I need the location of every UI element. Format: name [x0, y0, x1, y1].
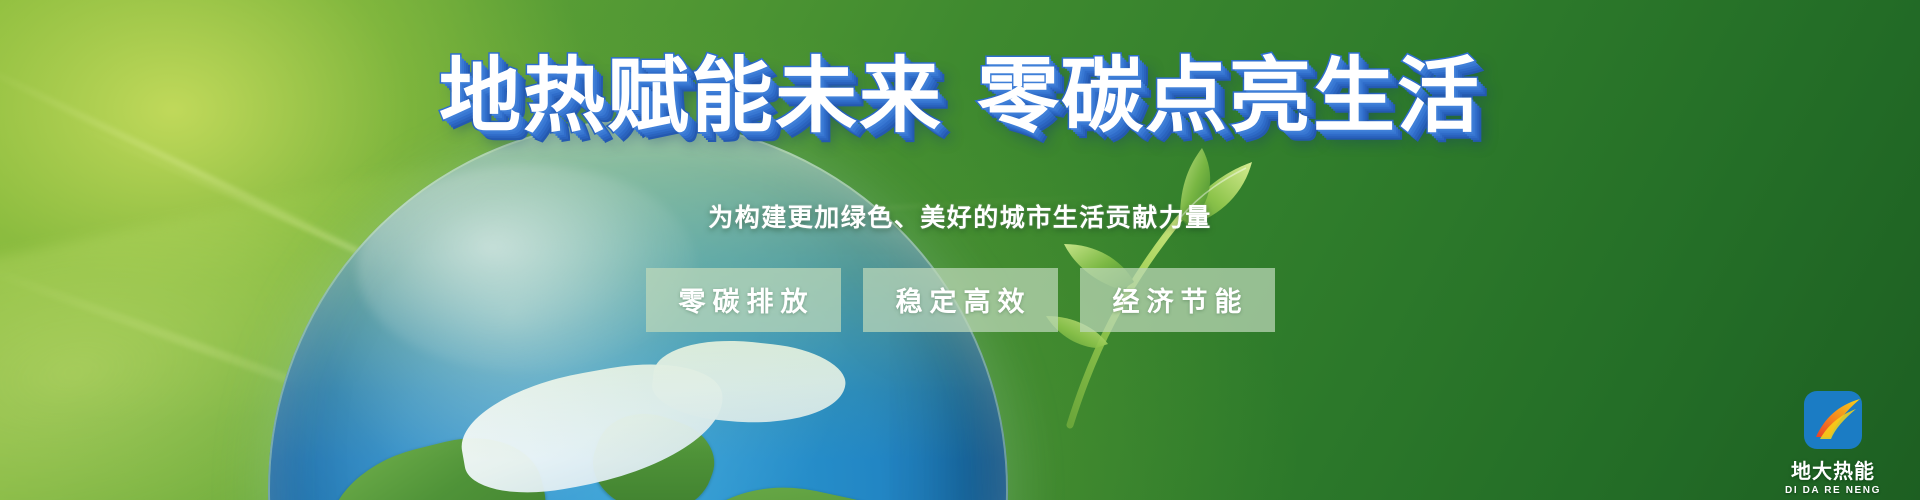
globe-snow-cap [649, 332, 849, 433]
globe-landmass [312, 421, 565, 500]
globe-snow-cap [453, 349, 735, 500]
globe-landmass [658, 466, 944, 500]
page-title: 地热赋能未来零碳点亮生活 [0, 52, 1920, 142]
flame-square-logo-icon [1802, 389, 1864, 451]
feature-pill-stable-efficient[interactable]: 稳定高效 [863, 268, 1058, 332]
globe-landmass [581, 399, 725, 500]
light-streak-decoration [67, 120, 654, 385]
logo-svg [1802, 389, 1864, 451]
hero-banner: 地热赋能未来零碳点亮生活 为构建更加绿色、美好的城市生活贡献力量 零碳排放 稳定… [0, 0, 1920, 500]
page-subtitle: 为构建更加绿色、美好的城市生活贡献力量 [0, 198, 1920, 234]
headline-part-1: 地热赋能未来 [439, 51, 943, 142]
logo-name-cn: 地大热能 [1791, 455, 1875, 484]
feature-pill-economic-saving[interactable]: 经济节能 [1080, 268, 1275, 332]
headline-part-2: 零碳点亮生活 [977, 51, 1481, 142]
logo-name-en: DI DA RE NENG [1785, 485, 1881, 496]
brand-logo[interactable]: 地大热能 DI DA RE NENG [1774, 389, 1892, 496]
feature-pill-zero-carbon[interactable]: 零碳排放 [646, 268, 841, 332]
feature-pill-group: 零碳排放 稳定高效 经济节能 [0, 268, 1920, 332]
